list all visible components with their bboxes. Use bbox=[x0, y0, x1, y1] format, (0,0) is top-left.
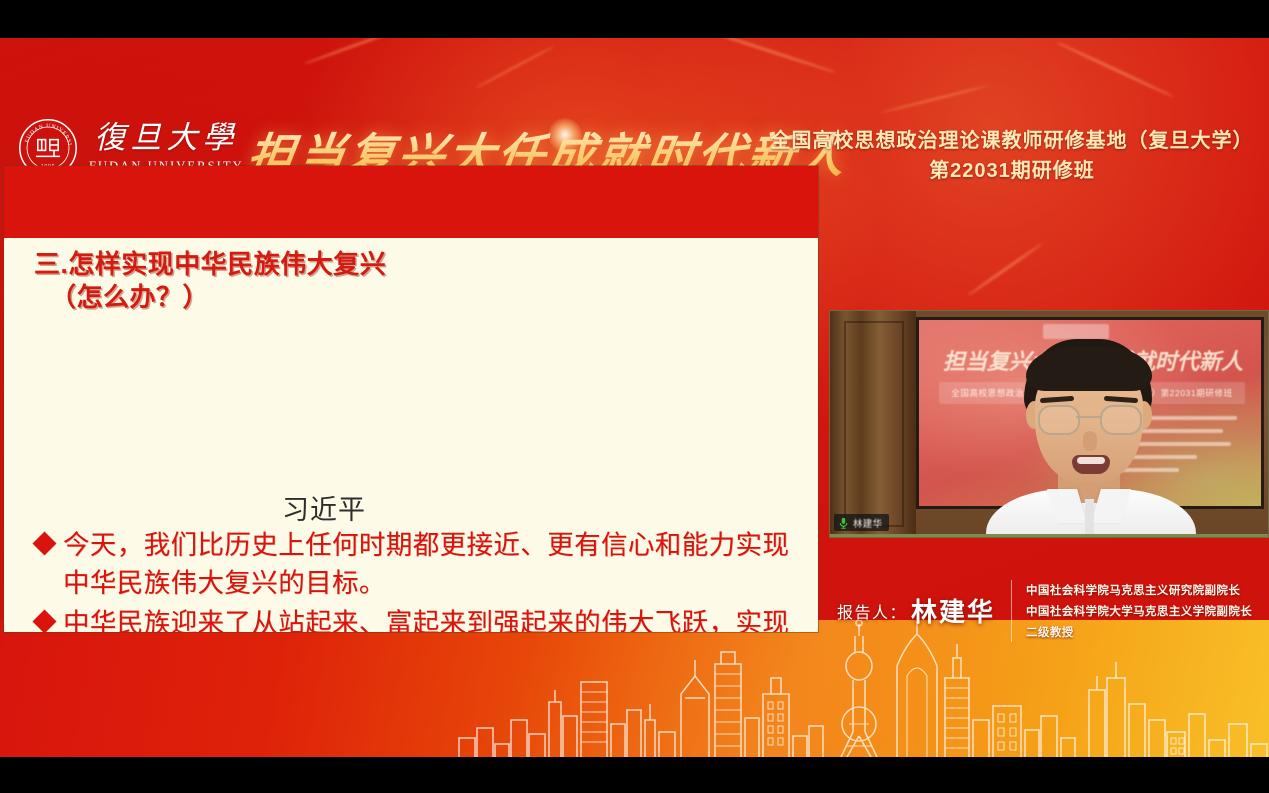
eyeglass-lens-left bbox=[1038, 405, 1080, 435]
presentation-stage: FUDAN UNIVERSITY 1905 復旦大學 FUDAN UNIVERS… bbox=[0, 38, 1269, 757]
slide-bullet-text: 中华民族迎来了从站起来、富起来到强起来的伟大飞跃，实现中华民族伟大复兴进入了不可… bbox=[63, 604, 798, 632]
speaker-title: 二级教授 bbox=[1026, 624, 1252, 640]
slide-bullet-item: 今天，我们比历史上任何时期都更接近、更有信心和能力实现中华民族伟大复兴的目标。 bbox=[26, 526, 806, 602]
diamond-bullet-icon bbox=[32, 609, 56, 632]
speaker-video-figure bbox=[980, 339, 1200, 537]
vertical-divider bbox=[1011, 580, 1012, 642]
course-title-block: 全国高校思想政治理论课教师研修基地（复旦大学） 第22031期研修班 bbox=[762, 126, 1262, 186]
speaker-title: 中国社会科学院马克思主义研究院副院长 bbox=[1026, 582, 1252, 598]
eyeglass-lens-right bbox=[1100, 405, 1142, 435]
participant-video-tile[interactable]: 担当复兴大任 成就时代新人 全国高校思想政治理论课教师研修基地（复旦大学）第22… bbox=[829, 310, 1269, 538]
active-speaker-indicator bbox=[830, 534, 1268, 537]
letterbox-bottom bbox=[0, 757, 1269, 793]
slide-bullet-text: 今天，我们比历史上任何时期都更接近、更有信心和能力实现中华民族伟大复兴的目标。 bbox=[63, 526, 798, 602]
shared-slide[interactable]: 三.怎样实现中华民族伟大复兴 （怎么办？） 习近平 今天，我们比历史上任何时期都… bbox=[4, 166, 818, 632]
slide-title-line-2: （怎么办？） bbox=[50, 281, 794, 314]
slide-bullet-item: 中华民族迎来了从站起来、富起来到强起来的伟大飞跃，实现中华民族伟大复兴进入了不可… bbox=[26, 604, 806, 632]
mouth bbox=[1072, 455, 1110, 474]
slide-title-line-1: 三.怎样实现中华民族伟大复兴 bbox=[34, 249, 386, 279]
hair-fringe bbox=[1026, 347, 1152, 391]
diamond-bullet-icon bbox=[32, 531, 56, 555]
slide-title: 三.怎样实现中华民族伟大复兴 （怎么办？） bbox=[34, 248, 794, 314]
speaker-credentials-banner: 报告人： 林建华 中国社会科学院马克思主义研究院副院长 中国社会科学院大学马克思… bbox=[819, 558, 1269, 663]
shirt-placket bbox=[1085, 499, 1094, 537]
slide-red-band bbox=[4, 166, 818, 238]
nose bbox=[1083, 431, 1097, 451]
fudan-name-cn: 復旦大學 bbox=[94, 122, 238, 153]
course-title-line-2: 第22031期研修班 bbox=[762, 156, 1262, 186]
participant-name-chip: 林建华 bbox=[834, 514, 889, 531]
speaker-title-list: 中国社会科学院马克思主义研究院副院长 中国社会科学院大学马克思主义学院副院长 二… bbox=[1026, 582, 1252, 640]
speaker-title: 中国社会科学院大学马克思主义学院副院长 bbox=[1026, 603, 1252, 619]
microphone-icon[interactable] bbox=[838, 517, 849, 529]
speaker-name: 林建华 bbox=[911, 592, 995, 629]
slide-bullet-list: 今天，我们比历史上任何时期都更接近、更有信心和能力实现中华民族伟大复兴的目标。 … bbox=[26, 526, 806, 632]
screen-logo bbox=[1043, 324, 1109, 339]
event-header: FUDAN UNIVERSITY 1905 復旦大學 FUDAN UNIVERS… bbox=[0, 38, 1269, 163]
wooden-door-background bbox=[830, 311, 916, 537]
letterbox-top bbox=[0, 0, 1269, 38]
speaker-label: 报告人： bbox=[837, 599, 907, 623]
slide-author: 习近平 bbox=[4, 488, 644, 527]
eyeglass-bridge bbox=[1076, 416, 1100, 418]
participant-name-label: 林建华 bbox=[853, 516, 882, 530]
course-title-line-1: 全国高校思想政治理论课教师研修基地（复旦大学） bbox=[762, 126, 1262, 156]
